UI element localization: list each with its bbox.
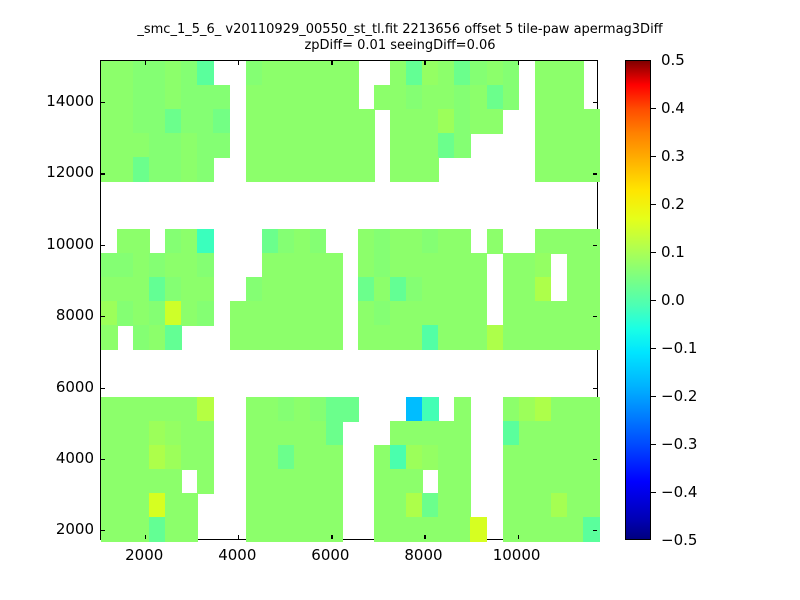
heatmap-cell (454, 469, 471, 494)
heatmap-cell (390, 493, 407, 518)
heatmap-cell (374, 301, 391, 326)
heatmap-cell (438, 85, 455, 110)
heatmap-cell (310, 277, 327, 302)
heatmap-cell (390, 277, 407, 302)
heatmap-cell (470, 61, 487, 86)
heatmap-cell (390, 157, 407, 182)
heatmap-cell (262, 445, 279, 470)
heatmap-cell (278, 445, 295, 470)
heatmap-cell (197, 469, 214, 494)
heatmap-cell (310, 421, 327, 446)
heatmap-cell (294, 277, 311, 302)
heatmap-cell (197, 397, 214, 422)
heatmap-cell (181, 517, 198, 542)
heatmap-cell (358, 325, 375, 350)
heatmap-cell (535, 517, 552, 542)
heatmap-cell (165, 397, 182, 422)
heatmap-cell (294, 445, 311, 470)
heatmap-cell (165, 277, 182, 302)
heatmap-cell (165, 445, 182, 470)
y-tick-label: 6000 (56, 378, 94, 396)
heatmap-cell (342, 157, 359, 182)
heatmap-cell (551, 133, 568, 158)
heatmap-cell (310, 133, 327, 158)
heatmap-cell (390, 421, 407, 446)
heatmap-cell (181, 421, 198, 446)
heatmap-cell (133, 61, 150, 86)
heatmap-cell (535, 325, 552, 350)
heatmap-cell (438, 109, 455, 134)
heatmap-cell (278, 517, 295, 542)
heatmap-cell (454, 133, 471, 158)
heatmap-cell (326, 61, 343, 86)
heatmap-cell (583, 133, 600, 158)
colorbar-tick-mark (651, 492, 656, 493)
heatmap-cell (583, 229, 600, 254)
heatmap-cell (406, 397, 423, 422)
heatmap-cell (326, 301, 343, 326)
heatmap-cell (230, 325, 247, 350)
heatmap-cell (262, 85, 279, 110)
heatmap-cell (487, 85, 504, 110)
heatmap-cell (294, 61, 311, 86)
heatmap-cell (422, 229, 439, 254)
heatmap-cell (117, 301, 134, 326)
heatmap-cell (133, 325, 150, 350)
heatmap-cell (197, 301, 214, 326)
heatmap-cell (454, 517, 471, 542)
heatmap-cell (149, 253, 166, 278)
heatmap-cell (149, 133, 166, 158)
heatmap-cell (503, 397, 520, 422)
heatmap-cell (149, 421, 166, 446)
y-tick-mark (593, 245, 597, 246)
heatmap-cell (454, 253, 471, 278)
y-tick-mark (101, 173, 105, 174)
heatmap-cell (181, 277, 198, 302)
heatmap-cell (310, 445, 327, 470)
heatmap-cell (181, 445, 198, 470)
heatmap-cell (181, 397, 198, 422)
heatmap-cell (326, 133, 343, 158)
heatmap-cell (503, 445, 520, 470)
heatmap-cell (535, 493, 552, 518)
colorbar-tick-mark (651, 156, 656, 157)
y-tick-mark (593, 459, 597, 460)
heatmap-cell (310, 469, 327, 494)
heatmap-cells (101, 61, 597, 539)
heatmap-cell (406, 277, 423, 302)
y-tick-mark (101, 316, 105, 317)
heatmap-cell (454, 229, 471, 254)
colorbar-tick-label: −0.5 (661, 531, 697, 549)
heatmap-cell (454, 277, 471, 302)
heatmap-cell (503, 493, 520, 518)
heatmap-cell (101, 253, 118, 278)
heatmap-cell (535, 85, 552, 110)
heatmap-cell (294, 157, 311, 182)
heatmap-cell (181, 157, 198, 182)
heatmap-cell (117, 277, 134, 302)
heatmap-cell (438, 133, 455, 158)
heatmap-cell (567, 229, 584, 254)
heatmap-cell (278, 301, 295, 326)
heatmap-cell (165, 517, 182, 542)
heatmap-cell (181, 109, 198, 134)
heatmap-cell (519, 277, 536, 302)
heatmap-cell (583, 253, 600, 278)
heatmap-cell (246, 325, 263, 350)
heatmap-cell (422, 397, 439, 422)
heatmap-cell (583, 469, 600, 494)
heatmap-cell (117, 397, 134, 422)
heatmap-cell (246, 421, 263, 446)
heatmap-cell (149, 85, 166, 110)
heatmap-cell (454, 421, 471, 446)
plot-title: _smc_1_5_6_ v20110929_00550_st_tl.fit 22… (0, 22, 800, 37)
heatmap-cell (454, 301, 471, 326)
heatmap-cell (294, 133, 311, 158)
heatmap-cell (310, 157, 327, 182)
y-tick-label: 14000 (46, 92, 94, 110)
heatmap-cell (310, 493, 327, 518)
heatmap-cell (197, 133, 214, 158)
heatmap-cell (197, 421, 214, 446)
heatmap-cell (567, 109, 584, 134)
heatmap-cell (519, 253, 536, 278)
heatmap-cell (294, 301, 311, 326)
heatmap-cell (246, 157, 263, 182)
heatmap-cell (567, 133, 584, 158)
heatmap-cell (294, 493, 311, 518)
heatmap-cell (262, 421, 279, 446)
heatmap-cell (535, 445, 552, 470)
heatmap-cell (165, 469, 182, 494)
heatmap-cell (374, 229, 391, 254)
heatmap-cell (310, 301, 327, 326)
heatmap-cell (454, 61, 471, 86)
heatmap-cell (551, 229, 568, 254)
heatmap-cell (567, 421, 584, 446)
heatmap-cell (390, 85, 407, 110)
colorbar-tick-label: −0.3 (661, 435, 697, 453)
heatmap-cell (551, 397, 568, 422)
heatmap-cell (567, 157, 584, 182)
heatmap-cell (181, 493, 198, 518)
heatmap-cell (390, 133, 407, 158)
x-tick-mark (331, 535, 332, 539)
heatmap-cell (133, 517, 150, 542)
x-tick-label: 8000 (404, 546, 442, 564)
heatmap-cell (326, 277, 343, 302)
colorbar-tick-label: 0.0 (661, 291, 685, 309)
heatmap-cell (406, 421, 423, 446)
heatmap-cell (294, 229, 311, 254)
heatmap-cell (470, 325, 487, 350)
heatmap-cell (374, 85, 391, 110)
heatmap-cell (310, 325, 327, 350)
heatmap-cell (438, 301, 455, 326)
heatmap-cell (181, 85, 198, 110)
heatmap-cell (487, 325, 504, 350)
heatmap-cell (133, 109, 150, 134)
y-tick-label: 4000 (56, 449, 94, 467)
heatmap-cell (358, 253, 375, 278)
heatmap-cell (294, 325, 311, 350)
heatmap-cell (342, 133, 359, 158)
heatmap-cell (262, 157, 279, 182)
heatmap-cell (326, 325, 343, 350)
heatmap-cell (567, 397, 584, 422)
heatmap-cell (567, 301, 584, 326)
x-tick-label: 4000 (218, 546, 256, 564)
heatmap-cell (567, 445, 584, 470)
heatmap-cell (535, 229, 552, 254)
heatmap-cell (567, 325, 584, 350)
heatmap-cell (294, 421, 311, 446)
heatmap-cell (422, 493, 439, 518)
colorbar-tick-mark (651, 300, 656, 301)
colorbar-tick-label: 0.3 (661, 147, 685, 165)
heatmap-cell (278, 109, 295, 134)
heatmap-cell (326, 421, 343, 446)
heatmap-cell (551, 445, 568, 470)
heatmap-cell (342, 397, 359, 422)
heatmap-cell (406, 517, 423, 542)
heatmap-cell (438, 445, 455, 470)
heatmap-cell (390, 229, 407, 254)
heatmap-cell (278, 61, 295, 86)
heatmap-cell (165, 85, 182, 110)
heatmap-cell (422, 325, 439, 350)
y-tick-mark (593, 173, 597, 174)
heatmap-cell (503, 277, 520, 302)
heatmap-cell (470, 277, 487, 302)
heatmap-cell (117, 517, 134, 542)
colorbar-tick-label: 0.4 (661, 99, 685, 117)
heatmap-cell (454, 85, 471, 110)
heatmap-cell (567, 517, 584, 542)
heatmap-cell (567, 61, 584, 86)
heatmap-cell (246, 493, 263, 518)
heatmap-cell (406, 85, 423, 110)
heatmap-cell (374, 325, 391, 350)
heatmap-cell (406, 229, 423, 254)
heatmap-cell (262, 253, 279, 278)
heatmap-cell (262, 493, 279, 518)
heatmap-cell (390, 109, 407, 134)
heatmap-cell (535, 133, 552, 158)
heatmap-cell (278, 229, 295, 254)
heatmap-cell (374, 445, 391, 470)
heatmap-cell (503, 253, 520, 278)
heatmap-cell (406, 325, 423, 350)
heatmap-cell (454, 397, 471, 422)
x-tick-mark (424, 535, 425, 539)
heatmap-cell (165, 109, 182, 134)
heatmap-cell (117, 493, 134, 518)
heatmap-cell (197, 109, 214, 134)
heatmap-cell (567, 277, 584, 302)
heatmap-cell (278, 397, 295, 422)
heatmap-cell (374, 253, 391, 278)
heatmap-cell (326, 445, 343, 470)
heatmap-cell (326, 157, 343, 182)
heatmap-cell (294, 253, 311, 278)
heatmap-cell (278, 85, 295, 110)
heatmap-cell (487, 61, 504, 86)
heatmap-cell (406, 61, 423, 86)
y-tick-mark (101, 459, 105, 460)
heatmap-cell (133, 445, 150, 470)
heatmap-cell (503, 85, 520, 110)
heatmap-cell (535, 421, 552, 446)
heatmap-cell (390, 445, 407, 470)
heatmap-cell (117, 469, 134, 494)
heatmap-cell (438, 229, 455, 254)
heatmap-cell (133, 85, 150, 110)
heatmap-cell (438, 253, 455, 278)
heatmap-cell (165, 133, 182, 158)
y-tick-mark (593, 530, 597, 531)
heatmap-cell (519, 445, 536, 470)
heatmap-cell (133, 133, 150, 158)
x-tick-mark (331, 61, 332, 65)
heatmap-cell (406, 133, 423, 158)
heatmap-cell (294, 517, 311, 542)
heatmap-cell (246, 517, 263, 542)
heatmap-cell (278, 277, 295, 302)
heatmap-cell (519, 397, 536, 422)
heatmap-cell (101, 61, 118, 86)
heatmap-cell (390, 301, 407, 326)
heatmap-cell (583, 109, 600, 134)
colorbar-tick-mark (651, 348, 656, 349)
heatmap-cell (262, 301, 279, 326)
heatmap-cell (358, 277, 375, 302)
heatmap-cell (438, 277, 455, 302)
heatmap-cell (101, 109, 118, 134)
heatmap-cell (165, 493, 182, 518)
heatmap-cell (406, 253, 423, 278)
heatmap-cell (246, 61, 263, 86)
heatmap-cell (246, 301, 263, 326)
heatmap-cell (326, 109, 343, 134)
heatmap-cell (470, 85, 487, 110)
heatmap-cell (213, 85, 230, 110)
heatmap-cell (197, 157, 214, 182)
heatmap-cell (422, 133, 439, 158)
heatmap-cell (149, 277, 166, 302)
heatmap-cell (101, 301, 118, 326)
heatmap-cell (181, 61, 198, 86)
heatmap-cell (149, 517, 166, 542)
heatmap-cell (262, 61, 279, 86)
heatmap-cell (551, 109, 568, 134)
heatmap-cell (374, 517, 391, 542)
heatmap-cell (567, 493, 584, 518)
heatmap-cell (197, 277, 214, 302)
heatmap-cell (165, 253, 182, 278)
x-tick-mark (424, 61, 425, 65)
heatmap-cell (101, 133, 118, 158)
heatmap-cell (551, 85, 568, 110)
heatmap-cell (117, 61, 134, 86)
heatmap-cell (133, 253, 150, 278)
heatmap-cell (101, 469, 118, 494)
heatmap-cell (133, 301, 150, 326)
x-tick-label: 2000 (125, 546, 163, 564)
heatmap-cell (181, 301, 198, 326)
heatmap-cell (519, 469, 536, 494)
heatmap-cell (278, 469, 295, 494)
heatmap-cell (310, 61, 327, 86)
heatmap-cell (133, 421, 150, 446)
heatmap-cell (551, 61, 568, 86)
heatmap-cell (358, 229, 375, 254)
heatmap-cell (197, 85, 214, 110)
heatmap-cell (230, 301, 247, 326)
heatmap-cell (262, 229, 279, 254)
heatmap-cell (133, 397, 150, 422)
heatmap-cell (438, 493, 455, 518)
x-tick-mark (238, 61, 239, 65)
heatmap-cell (470, 109, 487, 134)
heatmap-cell (503, 325, 520, 350)
heatmap-cell (390, 253, 407, 278)
heatmap-cell (149, 469, 166, 494)
heatmap-cell (117, 157, 134, 182)
heatmap-cell (149, 109, 166, 134)
heatmap-cell (406, 157, 423, 182)
x-tick-label: 6000 (311, 546, 349, 564)
heatmap-cell (535, 301, 552, 326)
heatmap-cell (262, 517, 279, 542)
heatmap-cell (165, 229, 182, 254)
heatmap-cell (149, 301, 166, 326)
heatmap-cell (101, 277, 118, 302)
heatmap-cell (294, 109, 311, 134)
heatmap-cell (310, 397, 327, 422)
heatmap-cell (133, 493, 150, 518)
colorbar-gradient (625, 60, 651, 540)
heatmap-cell (342, 85, 359, 110)
heatmap-cell (374, 277, 391, 302)
heatmap-cell (326, 517, 343, 542)
heatmap-cell (583, 517, 600, 542)
heatmap-cell (406, 445, 423, 470)
heatmap-cell (567, 469, 584, 494)
heatmap-cell (535, 109, 552, 134)
heatmap-cell (583, 301, 600, 326)
heatmap-cell (165, 157, 182, 182)
heatmap-cell (535, 469, 552, 494)
heatmap-cell (262, 397, 279, 422)
y-tick-mark (101, 102, 105, 103)
heatmap-cell (583, 493, 600, 518)
heatmap-cell (583, 325, 600, 350)
heatmap-cell (278, 253, 295, 278)
colorbar-tick-label: −0.1 (661, 339, 697, 357)
heatmap-cell (583, 277, 600, 302)
heatmap-cell (213, 133, 230, 158)
heatmap-cell (438, 517, 455, 542)
heatmap-cell (149, 61, 166, 86)
heatmap-cell (422, 85, 439, 110)
heatmap-cell (551, 325, 568, 350)
heatmap-cell (551, 301, 568, 326)
heatmap-cell (326, 397, 343, 422)
